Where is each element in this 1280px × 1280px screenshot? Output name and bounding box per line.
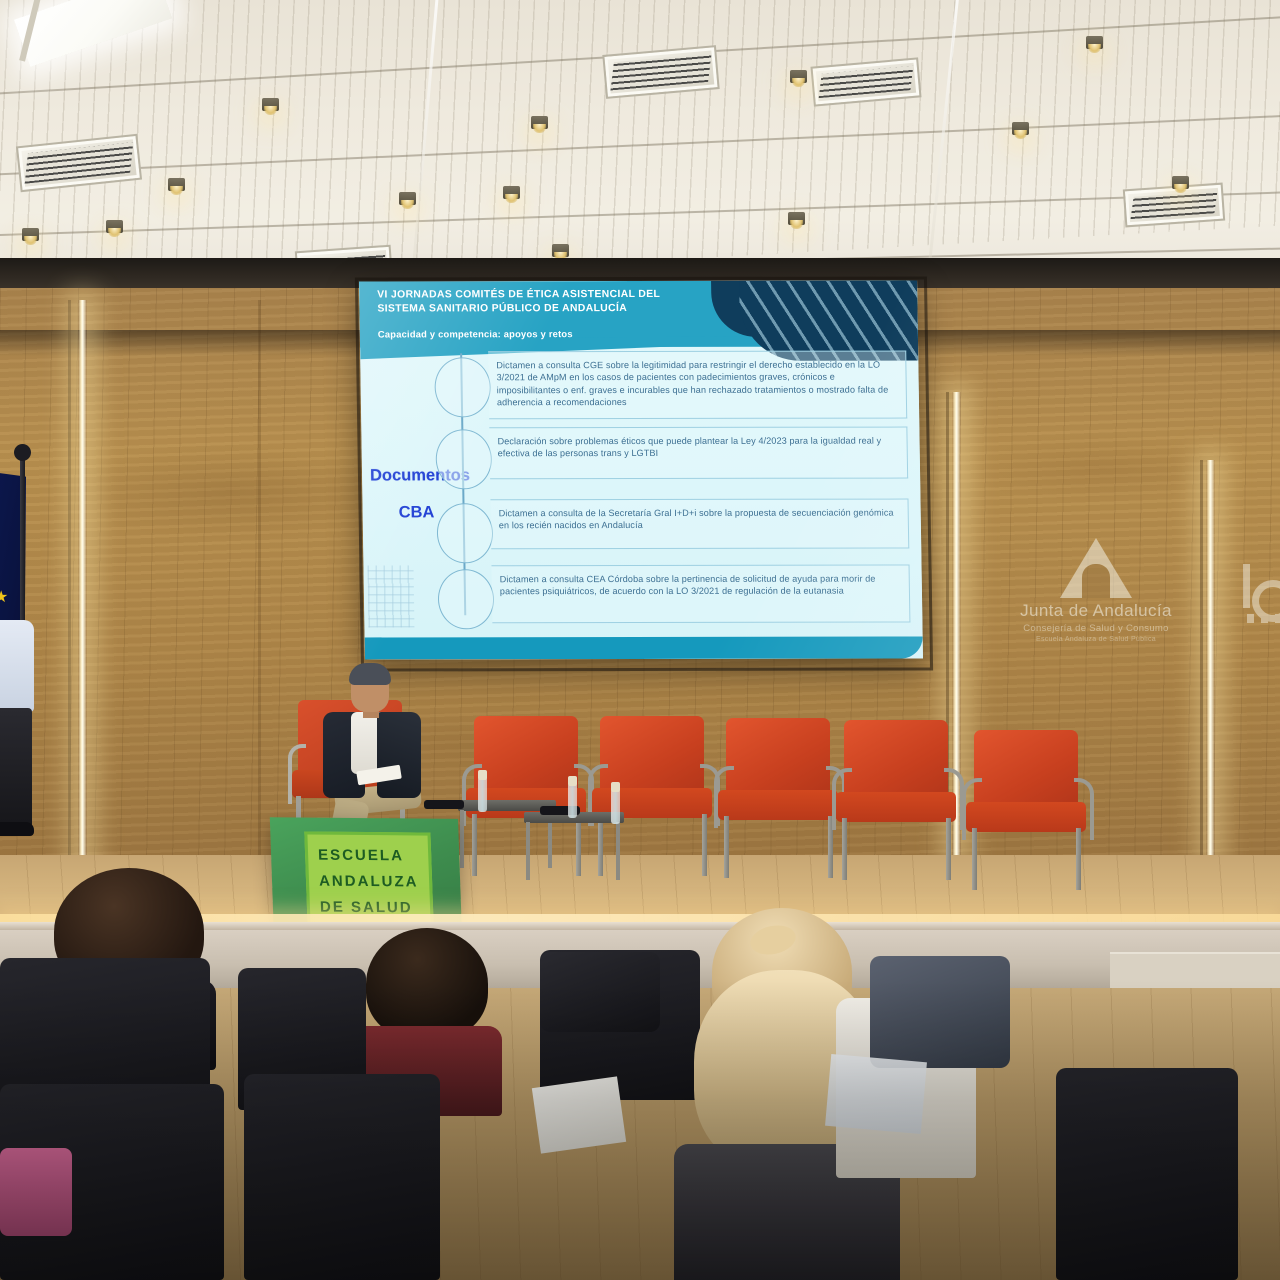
slide-item-text: Dictamen a consulta de la Secretaría Gra…	[490, 500, 908, 538]
slide-item-text: Dictamen a consulta CEA Córdoba sobre la…	[491, 566, 909, 604]
slide-title: VI JORNADAS COMITÉS DE ÉTICA ASISTENCIAL…	[377, 288, 707, 316]
conference-hall-photo: Junta de Andalucía Consejería de Salud y…	[0, 0, 1280, 1280]
logo-bar-icon	[1243, 564, 1250, 608]
presentation-slide: VI JORNADAS COMITÉS DE ÉTICA ASISTENCIAL…	[359, 281, 923, 660]
projection-screen: VI JORNADAS COMITÉS DE ÉTICA ASISTENCIAL…	[359, 281, 923, 660]
slide-corner-graphic	[739, 281, 920, 361]
speaker-jacket-right	[377, 712, 421, 798]
ceiling-spotlight	[399, 192, 416, 205]
draped-jacket	[870, 956, 1010, 1068]
chair-seat	[966, 802, 1086, 832]
slide-node-bullet	[436, 503, 493, 563]
chair-backrest	[474, 716, 578, 794]
water-bottle	[611, 790, 620, 824]
ceiling-spotlight	[552, 244, 569, 257]
attendee-trousers	[0, 708, 32, 828]
chair-leg	[972, 828, 977, 890]
slide-node-bullet	[438, 569, 495, 629]
ceiling-spotlight	[262, 98, 279, 111]
slide-node-bullet	[434, 357, 491, 417]
flag-pole-finial	[14, 444, 31, 461]
jacket-on-seat	[870, 956, 1010, 1076]
attendee-shoes	[0, 822, 34, 836]
audience-member	[0, 1148, 72, 1236]
slide-node-bullet	[435, 429, 492, 489]
chair-leg	[1076, 828, 1081, 890]
auditorium-seat	[1056, 1068, 1238, 1280]
ceiling-spotlight	[22, 228, 39, 241]
slide-subtitle: Capacidad y competencia: apoyos y retos	[378, 328, 708, 340]
chair-seat	[836, 792, 956, 822]
handout-papers	[532, 1076, 626, 1153]
chair-backrest	[844, 720, 948, 798]
attendee-shirt	[0, 620, 34, 712]
logo-organization: Junta de Andalucía	[1016, 601, 1176, 621]
slide-footer-band	[365, 636, 923, 659]
ceiling-spotlight	[106, 220, 123, 233]
junta-de-andalucia-logo: Junta de Andalucía Consejería de Salud y…	[1016, 538, 1176, 648]
side-table	[524, 812, 624, 882]
seated-speaker	[305, 660, 435, 840]
chair-seat	[718, 790, 838, 820]
ceiling-spotlight	[168, 178, 185, 191]
ceiling-spotlight	[531, 116, 548, 129]
audience-head	[366, 928, 488, 1040]
device-on-table	[424, 800, 464, 809]
slide-dot-pattern	[367, 565, 414, 627]
audience-member	[350, 928, 502, 1078]
wall-panel-edge	[68, 300, 71, 880]
chair-leg	[724, 816, 729, 878]
secondary-wall-logo	[1243, 560, 1280, 630]
standing-attendee	[0, 620, 48, 880]
ceiling-spotlight	[1086, 36, 1103, 49]
bag-on-seat	[540, 952, 660, 1038]
chair-leg	[842, 818, 847, 880]
slide-title-line1: VI JORNADAS COMITÉS DE ÉTICA ASISTENCIAL…	[377, 288, 707, 302]
table-leg	[616, 822, 620, 880]
water-bottle	[568, 784, 577, 818]
chair-backrest	[726, 718, 830, 796]
ceiling-spotlight	[503, 186, 520, 199]
chair-armrest	[288, 744, 306, 804]
ceiling-spotlight	[1172, 176, 1189, 189]
logo-department: Consejería de Salud y Consumo	[1016, 623, 1176, 634]
ceiling-spotlight	[1012, 122, 1029, 135]
logo-dots-icon	[1247, 614, 1280, 623]
wall-panel-edge	[258, 300, 261, 870]
water-bottle	[478, 778, 487, 812]
slide-item: Declaración sobre problemas éticos que p…	[489, 427, 908, 480]
handout-papers	[825, 1054, 927, 1134]
chair-leg	[702, 814, 707, 876]
speaker-hair	[349, 663, 391, 685]
slide-item: Dictamen a consulta CEA Córdoba sobre la…	[491, 565, 910, 624]
slide-item: Dictamen a consulta CGE sobre la legitim…	[488, 351, 907, 420]
ceiling-spotlight	[788, 212, 805, 225]
wall-light-slot	[78, 300, 87, 880]
auditorium-seat	[244, 1074, 440, 1280]
logo-school: Escuela Andaluza de Salud Pública	[1016, 636, 1176, 643]
ceiling-spotlight	[790, 70, 807, 83]
andalucia-a-icon	[1060, 538, 1132, 598]
wall-panel-edge	[1200, 460, 1203, 862]
podium-line-1: ESCUELA	[318, 843, 429, 870]
slide-item-text: Declaración sobre problemas éticos que p…	[489, 428, 907, 466]
chair-leg	[946, 818, 951, 880]
slide-item-text: Dictamen a consulta CGE sobre la legitim…	[488, 352, 906, 415]
slide-title-line2: SISTEMA SANITARIO PÚBLICO DE ANDALUCÍA	[377, 301, 707, 315]
podium-line-2: ANDALUZA	[319, 869, 430, 896]
bag	[540, 952, 660, 1032]
table-leg	[460, 810, 464, 868]
ceiling	[0, 0, 1280, 292]
table-leg	[526, 822, 530, 880]
chair-backrest	[974, 730, 1078, 808]
slide-item: Dictamen a consulta de la Secretaría Gra…	[490, 499, 909, 550]
wall-light-slot	[1206, 460, 1215, 862]
